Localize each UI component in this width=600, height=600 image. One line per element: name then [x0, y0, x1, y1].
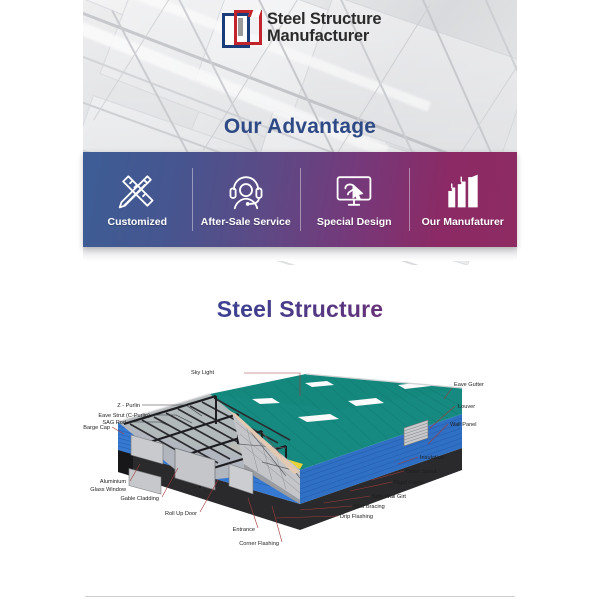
factory-buildings-icon	[442, 172, 484, 210]
steel-structure-logo-icon	[222, 10, 258, 46]
label-z-purlin: Z - Purlin	[117, 403, 140, 409]
steel-structure-diagram: Sky Light Z - Purlin Eave Strut (C-Purli…	[0, 352, 600, 582]
pencil-ruler-icon	[116, 172, 158, 210]
advantage-item-special-design[interactable]: Special Design	[300, 152, 409, 247]
brand-name: Steel Structure Manufacturer	[267, 11, 381, 45]
advantage-bar-shadow	[83, 247, 517, 261]
page-root: Steel Structure Manufacturer Our Advanta…	[0, 0, 600, 600]
label-rigid-frame: Rigid Frame	[394, 480, 424, 486]
label-entrance: Entrance	[233, 527, 255, 533]
advantage-item-customized[interactable]: Customized	[83, 152, 192, 247]
advantage-label: Our Manufaturer	[422, 216, 504, 228]
label-insulation: Insulation	[420, 455, 444, 461]
advantage-label: After-Sale Service	[201, 216, 291, 228]
brand-logo[interactable]: Steel Structure Manufacturer	[222, 10, 381, 46]
label-corner-flashing: Corner Flashing	[239, 541, 279, 547]
label-eave-strut: Eave Strut (C-Purlin)	[98, 413, 150, 419]
brand-line-1: Steel Structure	[267, 11, 381, 28]
advantage-item-our-manufaturer[interactable]: Our Manufaturer	[409, 152, 518, 247]
label-louver: Louver	[458, 404, 475, 410]
label-roll-up-door: Roll Up Door	[165, 511, 197, 517]
advantage-label: Special Design	[317, 216, 392, 228]
label-side-wall-girt: Side Wall Girt	[372, 494, 406, 500]
advantage-bar: Customized After-Sale Service	[83, 152, 517, 247]
advantage-item-after-sale-service[interactable]: After-Sale Service	[192, 152, 301, 247]
footer-divider	[85, 596, 515, 597]
advantage-label: Customized	[107, 216, 167, 228]
brand-line-2: Manufacturer	[267, 28, 381, 45]
monitor-cursor-icon	[333, 172, 375, 210]
label-sky-light: Sky Light	[191, 370, 214, 376]
building-illustration: Sky Light Z - Purlin Eave Strut (C-Purli…	[0, 352, 600, 582]
label-aluminium-window-line2: Glass Window	[90, 487, 127, 493]
label-eave-gutter: Eave Gutter	[454, 382, 484, 388]
label-barge-cap: Barge Cap	[83, 425, 110, 431]
advantage-heading: Our Advantage	[83, 115, 517, 139]
steel-structure-heading: Steel Structure	[83, 296, 517, 323]
label-drip-flashing: Drip Flashing	[340, 514, 373, 520]
label-aluminium-window-line1: Aluminium	[100, 479, 126, 485]
label-rod-bracing: Rod Bracing	[354, 504, 385, 510]
label-wall-panel: Wall Panel	[450, 422, 477, 428]
label-down-spout: Down Spout	[406, 469, 437, 475]
headset-support-icon	[225, 172, 267, 210]
label-gable-cladding: Gable Cladding	[120, 496, 159, 502]
